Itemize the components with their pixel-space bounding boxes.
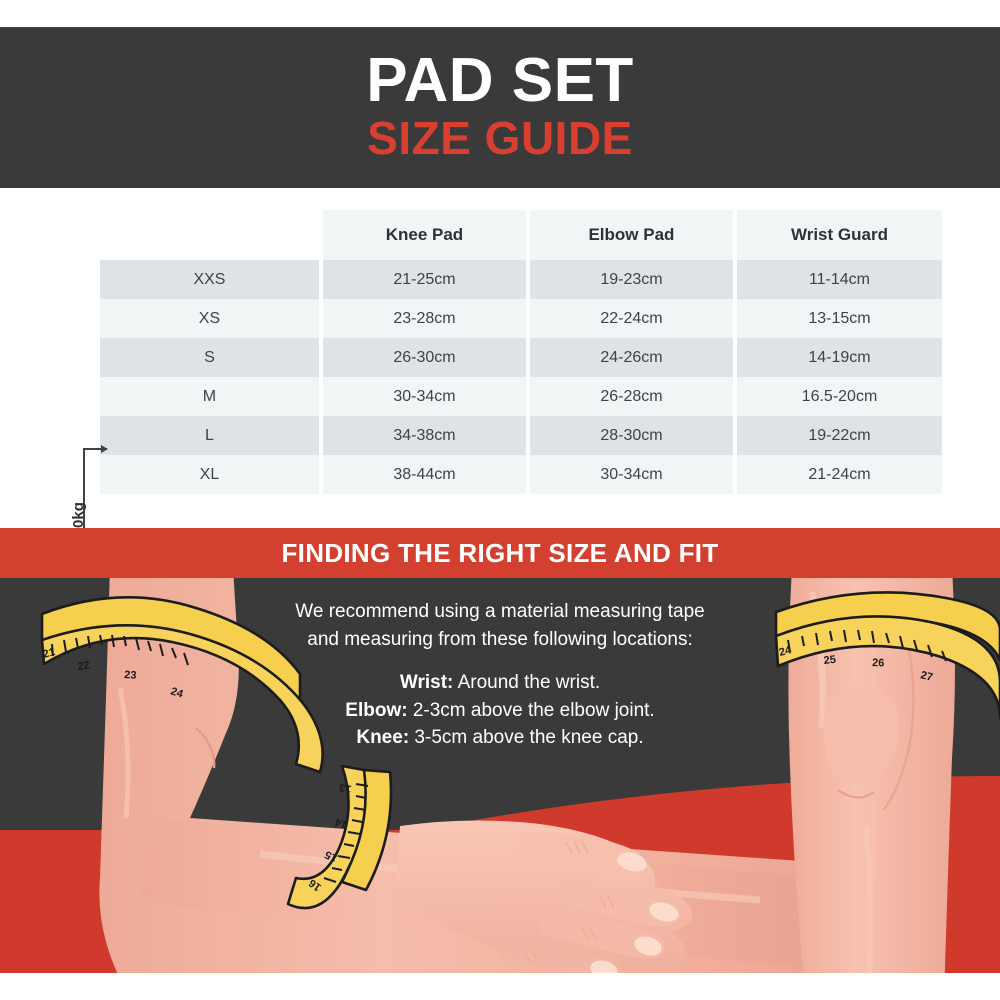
instruction-knee: Knee: 3-5cm above the knee cap. xyxy=(0,724,1000,752)
table-row: L 34-38cm 28-30cm 19-22cm xyxy=(100,416,942,455)
cell-size: M xyxy=(100,377,319,416)
cell-elbow: 22-24cm xyxy=(530,299,733,338)
cell-wrist: 14-19cm xyxy=(737,338,942,377)
cell-elbow: 19-23cm xyxy=(530,260,733,299)
bracket-arrow-icon xyxy=(83,448,107,450)
table-header-row: Knee Pad Elbow Pad Wrist Guard xyxy=(100,210,942,260)
cell-wrist: 21-24cm xyxy=(737,455,942,494)
cell-wrist: 19-22cm xyxy=(737,416,942,455)
instruction-knee-text: 3-5cm above the knee cap. xyxy=(409,727,643,748)
instruction-knee-label: Knee: xyxy=(356,727,409,748)
instruction-wrist-label: Wrist: xyxy=(400,672,453,693)
instruction-elbow-label: Elbow: xyxy=(345,700,407,721)
table-row: M 30-34cm 26-28cm 16.5-20cm xyxy=(100,377,942,416)
instruction-wrist-text: Around the wrist. xyxy=(453,672,600,693)
table-header-elbow-pad: Elbow Pad xyxy=(530,210,733,260)
cell-size: S xyxy=(100,338,319,377)
cell-elbow: 28-30cm xyxy=(530,416,733,455)
cell-size: XS xyxy=(100,299,319,338)
table-row: XL 38-44cm 30-34cm 21-24cm xyxy=(100,455,942,494)
table-header-wrist-guard: Wrist Guard xyxy=(737,210,942,260)
page-subtitle: SIZE GUIDE xyxy=(0,115,1000,161)
cell-knee: 34-38cm xyxy=(323,416,526,455)
instructions-block: We recommend using a material measuring … xyxy=(0,598,1000,752)
instruction-wrist: Wrist: Around the wrist. xyxy=(0,669,1000,697)
cell-knee: 23-28cm xyxy=(323,299,526,338)
cell-elbow: 24-26cm xyxy=(530,338,733,377)
size-guide-page: PAD SET SIZE GUIDE Knee Pad Elbow Pad Wr… xyxy=(0,0,1000,1000)
cell-knee: 21-25cm xyxy=(323,260,526,299)
instructions-line-2: and measuring from these following locat… xyxy=(0,626,1000,654)
table-row: S 26-30cm 24-26cm 14-19cm xyxy=(100,338,942,377)
cell-knee: 30-34cm xyxy=(323,377,526,416)
cell-elbow: 26-28cm xyxy=(530,377,733,416)
cell-knee: 38-44cm xyxy=(323,455,526,494)
cell-size: L xyxy=(100,416,319,455)
spacer xyxy=(0,653,1000,669)
cell-size: XL xyxy=(100,455,319,494)
size-table-section: Knee Pad Elbow Pad Wrist Guard XXS 21-25… xyxy=(0,188,1000,528)
page-title: PAD SET xyxy=(0,50,1000,112)
cell-wrist: 16.5-20cm xyxy=(737,377,942,416)
cell-wrist: 13-15cm xyxy=(737,299,942,338)
instructions-line-1: We recommend using a material measuring … xyxy=(0,598,1000,626)
table-row: XS 23-28cm 22-24cm 13-15cm xyxy=(100,299,942,338)
bottom-white-margin xyxy=(0,973,1000,1000)
cell-elbow: 30-34cm xyxy=(530,455,733,494)
cell-size: XXS xyxy=(100,260,319,299)
instruction-elbow: Elbow: 2-3cm above the elbow joint. xyxy=(0,697,1000,725)
table-row: XXS 21-25cm 19-23cm 11-14cm xyxy=(100,260,942,299)
table-header-size xyxy=(100,210,319,260)
cell-wrist: 11-14cm xyxy=(737,260,942,299)
section-banner-title: FINDING THE RIGHT SIZE AND FIT xyxy=(0,540,1000,566)
size-table: Knee Pad Elbow Pad Wrist Guard XXS 21-25… xyxy=(100,210,942,494)
table-header-knee-pad: Knee Pad xyxy=(323,210,526,260)
cell-knee: 26-30cm xyxy=(323,338,526,377)
svg-text:13: 13 xyxy=(338,781,352,795)
instruction-elbow-text: 2-3cm above the elbow joint. xyxy=(408,700,655,721)
